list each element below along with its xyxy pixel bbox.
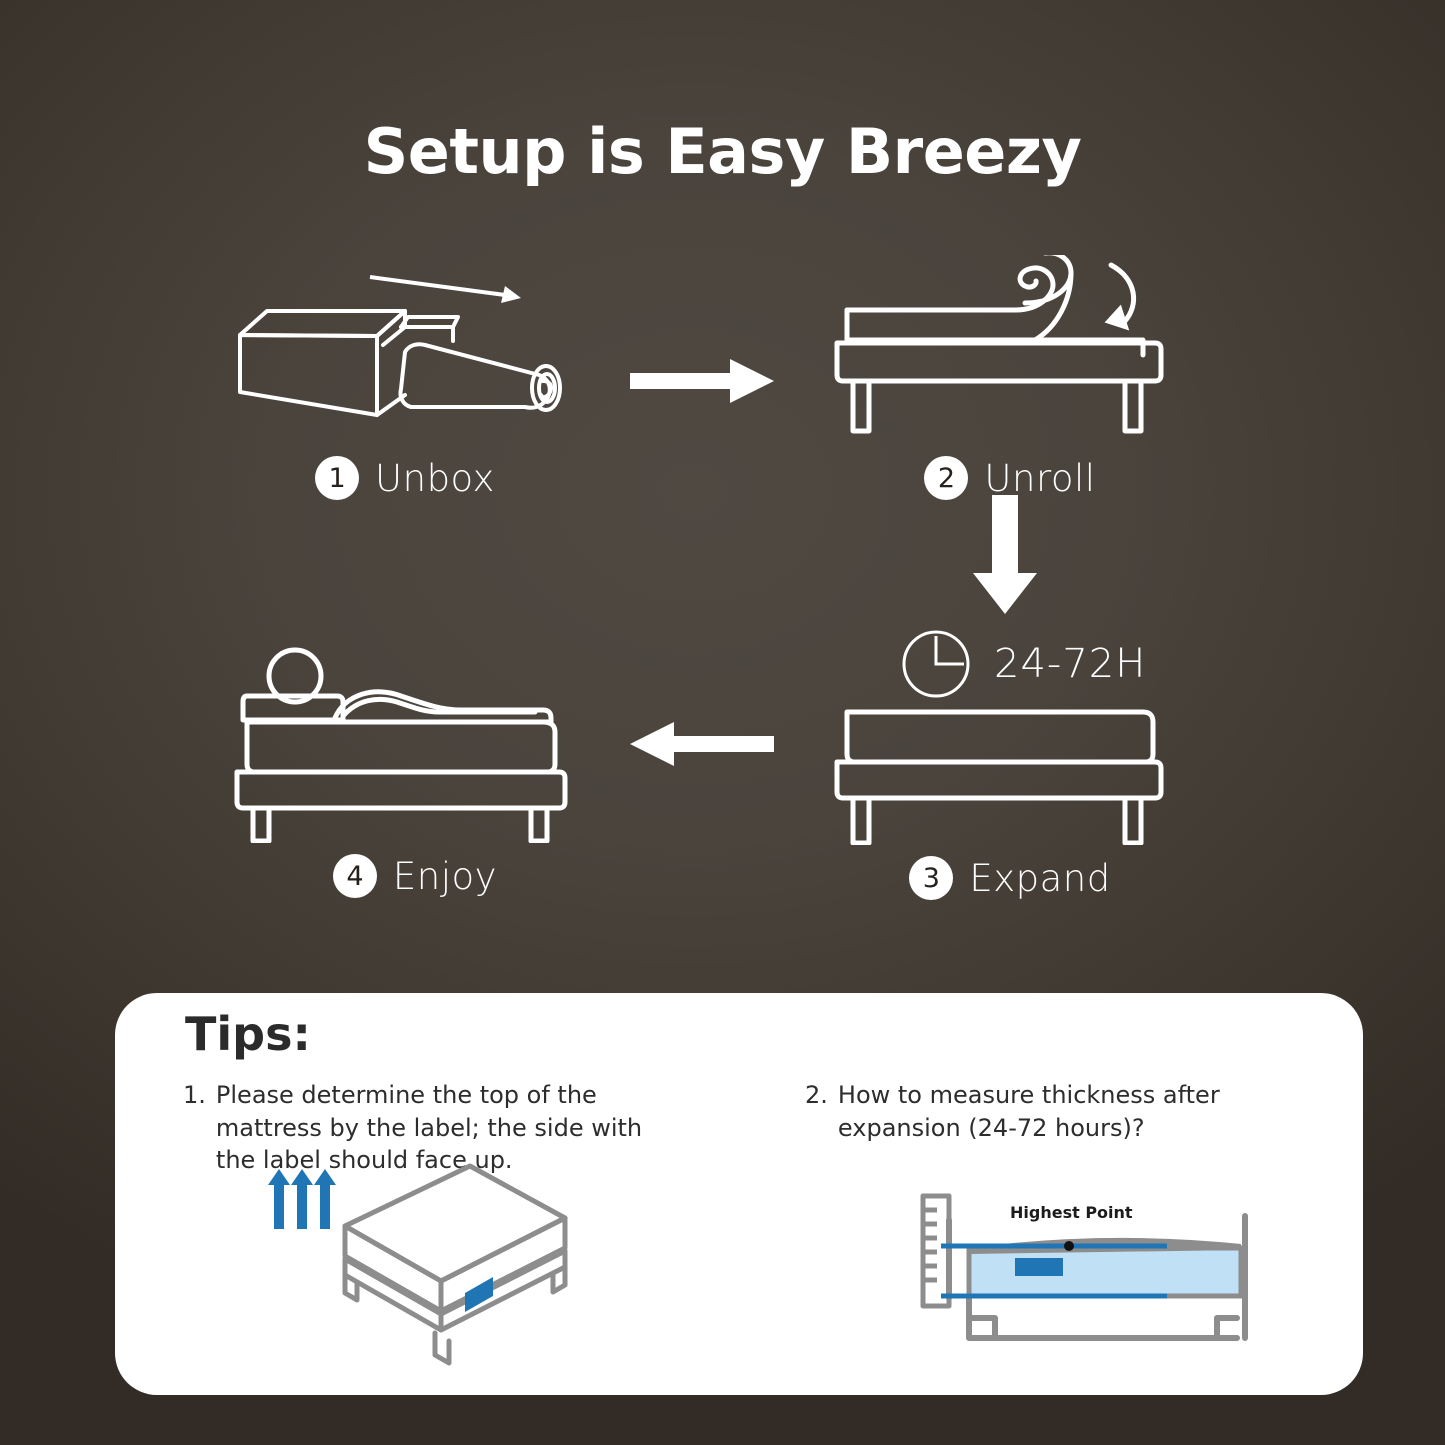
infographic-root: Setup is Easy Breezy: [0, 0, 1445, 1445]
step-3-label: 3 Expand: [825, 856, 1195, 900]
bed-with-expanded-mattress-icon: [825, 700, 1195, 845]
box-with-rolled-mattress-icon: [205, 255, 605, 445]
expansion-timer: 24-72H: [900, 628, 1146, 700]
step-2-text: Unroll: [984, 457, 1095, 500]
step-4-number: 4: [333, 854, 377, 898]
tip-1-illustration: [265, 1163, 595, 1393]
clock-icon: [900, 628, 972, 700]
step-1-illustration: [205, 255, 605, 450]
step-3-illustration: [825, 700, 1195, 850]
tip-1-number: 1.: [183, 1079, 206, 1177]
expansion-timer-text: 24-72H: [994, 641, 1146, 687]
tips-card: Tips: 1. Please determine the top of the…: [115, 993, 1363, 1395]
page-title: Setup is Easy Breezy: [0, 115, 1445, 188]
step-3-expand: 3 Expand: [825, 700, 1195, 900]
bed-with-unrolling-mattress-icon: [825, 255, 1195, 445]
step-1-unbox: 1 Unbox: [205, 255, 605, 500]
step-3-text: Expand: [969, 857, 1110, 900]
step-1-label: 1 Unbox: [205, 456, 605, 500]
arrow-down-icon: [965, 495, 1045, 615]
arrow-right-icon: [630, 355, 775, 407]
highest-point-label: Highest Point: [1010, 1203, 1133, 1222]
step-4-text: Enjoy: [393, 855, 497, 898]
tip-2: 2. How to measure thickness after expans…: [805, 1079, 1325, 1144]
tips-heading: Tips:: [185, 1007, 311, 1061]
three-up-arrows-icon: [268, 1169, 336, 1229]
step-4-enjoy: 4 Enjoy: [225, 638, 605, 898]
step-1-number: 1: [315, 456, 359, 500]
step-3-number: 3: [909, 856, 953, 900]
step-4-label: 4 Enjoy: [225, 854, 605, 898]
highest-point-dot-icon: [1064, 1241, 1074, 1251]
curved-arrow-icon: [1105, 265, 1137, 331]
arrow-left-icon: [630, 718, 775, 770]
tip-2-illustration: Highest Point: [905, 1178, 1285, 1383]
step-4-illustration: [225, 638, 605, 848]
step-2-number: 2: [924, 456, 968, 500]
tip-2-number: 2.: [805, 1079, 828, 1144]
step-2-illustration: [825, 255, 1195, 450]
step-1-text: Unbox: [375, 457, 495, 500]
bed-with-sleeping-person-icon: [225, 638, 605, 843]
step-2-label: 2 Unroll: [825, 456, 1195, 500]
tip-2-text: How to measure thickness after expansion…: [838, 1079, 1325, 1144]
isometric-mattress-with-label-icon: [345, 1166, 565, 1363]
step-2-unroll: 2 Unroll: [825, 255, 1195, 500]
slide-out-arrow: [370, 277, 521, 303]
